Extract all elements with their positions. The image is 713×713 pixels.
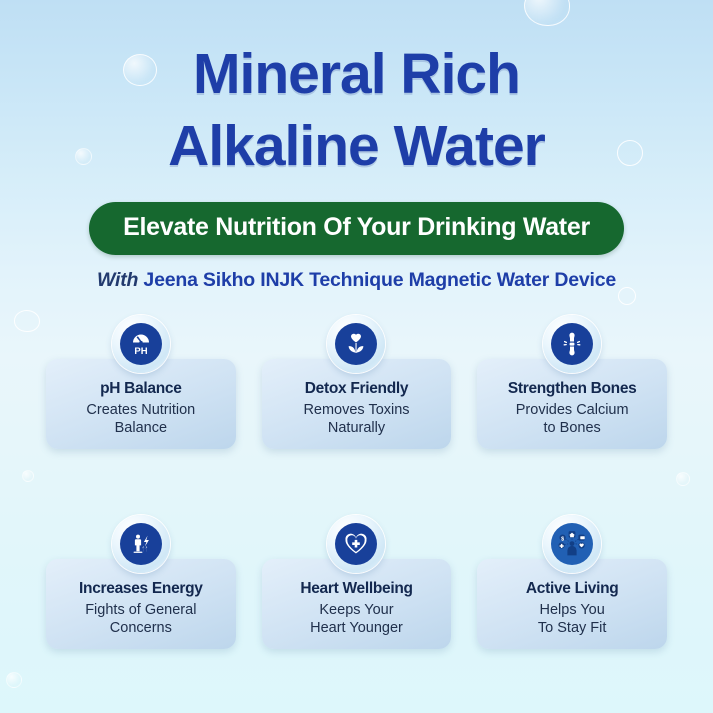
feature-desc: Removes Toxins Naturally bbox=[270, 401, 444, 437]
feature-title: Heart Wellbeing bbox=[270, 579, 444, 599]
hero-header: Mineral Rich Alkaline Water Elevate Nutr… bbox=[0, 0, 713, 292]
icon-bubble: $ bbox=[543, 515, 601, 573]
subtitle-brand: Jeena Sikho INJK Technique Magnetic Wate… bbox=[143, 269, 616, 291]
feature-desc-line2: Heart Younger bbox=[310, 620, 403, 636]
feature-title: Active Living bbox=[485, 579, 659, 599]
bubble-ring-icon bbox=[6, 672, 22, 688]
feature-card-strengthen-bones[interactable]: Strengthen Bones Provides Calcium to Bon… bbox=[477, 315, 667, 449]
page-title: Mineral Rich Alkaline Water bbox=[0, 0, 713, 182]
feature-desc-line2: To Stay Fit bbox=[538, 620, 607, 636]
feature-desc: Keeps Your Heart Younger bbox=[270, 601, 444, 637]
icon-bubble bbox=[543, 315, 601, 373]
feature-desc-line1: Keeps Your bbox=[319, 602, 393, 618]
feature-card-active-living[interactable]: $ Active Living Helps You bbox=[477, 515, 667, 649]
feature-grid: PH pH Balance Creates Nutrition Balance bbox=[46, 315, 667, 649]
feature-desc-line2: Balance bbox=[115, 420, 167, 436]
bone-joint-icon bbox=[551, 323, 593, 365]
feature-card-detox-friendly[interactable]: Detox Friendly Removes Toxins Naturally bbox=[262, 315, 452, 449]
feature-desc: Provides Calcium to Bones bbox=[485, 401, 659, 437]
svg-text:$: $ bbox=[561, 536, 564, 542]
feature-title: Strengthen Bones bbox=[485, 379, 659, 399]
feature-desc-line1: Helps You bbox=[540, 602, 605, 618]
subtitle: With Jeena Sikho INJK Technique Magnetic… bbox=[0, 269, 713, 292]
feature-desc-line2: to Bones bbox=[544, 420, 601, 436]
heart-plus-icon bbox=[335, 523, 377, 565]
feature-desc: Creates Nutrition Balance bbox=[54, 401, 228, 437]
feature-desc: Helps You To Stay Fit bbox=[485, 601, 659, 637]
person-energy-bolt-icon bbox=[120, 523, 162, 565]
feature-desc: Fights of General Concerns bbox=[54, 601, 228, 637]
feature-title: Detox Friendly bbox=[270, 379, 444, 399]
icon-bubble: PH bbox=[112, 315, 170, 373]
feature-desc-line1: Removes Toxins bbox=[303, 402, 409, 418]
active-lifestyle-icon: $ bbox=[551, 523, 593, 565]
icon-bubble bbox=[112, 515, 170, 573]
feature-card-heart-wellbeing[interactable]: Heart Wellbeing Keeps Your Heart Younger bbox=[262, 515, 452, 649]
feature-desc-line2: Concerns bbox=[110, 620, 172, 636]
feature-card-ph-balance[interactable]: PH pH Balance Creates Nutrition Balance bbox=[46, 315, 236, 449]
feature-desc-line1: Fights of General bbox=[85, 602, 196, 618]
bubble-ring-icon bbox=[14, 310, 40, 332]
feature-title: Increases Energy bbox=[54, 579, 228, 599]
bubble-ring-icon bbox=[676, 472, 690, 486]
feature-title: pH Balance bbox=[54, 379, 228, 399]
heart-leaves-icon bbox=[335, 323, 377, 365]
bubble-ring-icon bbox=[22, 470, 34, 482]
subtitle-prefix: With bbox=[97, 269, 138, 291]
banner-row: Elevate Nutrition Of Your Drinking Water bbox=[0, 202, 713, 255]
feature-desc-line1: Provides Calcium bbox=[516, 402, 629, 418]
feature-desc-line2: Naturally bbox=[328, 420, 385, 436]
svg-text:PH: PH bbox=[134, 346, 147, 357]
feature-card-increases-energy[interactable]: Increases Energy Fights of General Conce… bbox=[46, 515, 236, 649]
page-title-line2: Alkaline Water bbox=[0, 110, 713, 182]
page-title-line1: Mineral Rich bbox=[193, 42, 520, 106]
feature-desc-line1: Creates Nutrition bbox=[86, 402, 195, 418]
ph-meter-icon: PH bbox=[120, 323, 162, 365]
tagline-banner: Elevate Nutrition Of Your Drinking Water bbox=[89, 202, 624, 255]
